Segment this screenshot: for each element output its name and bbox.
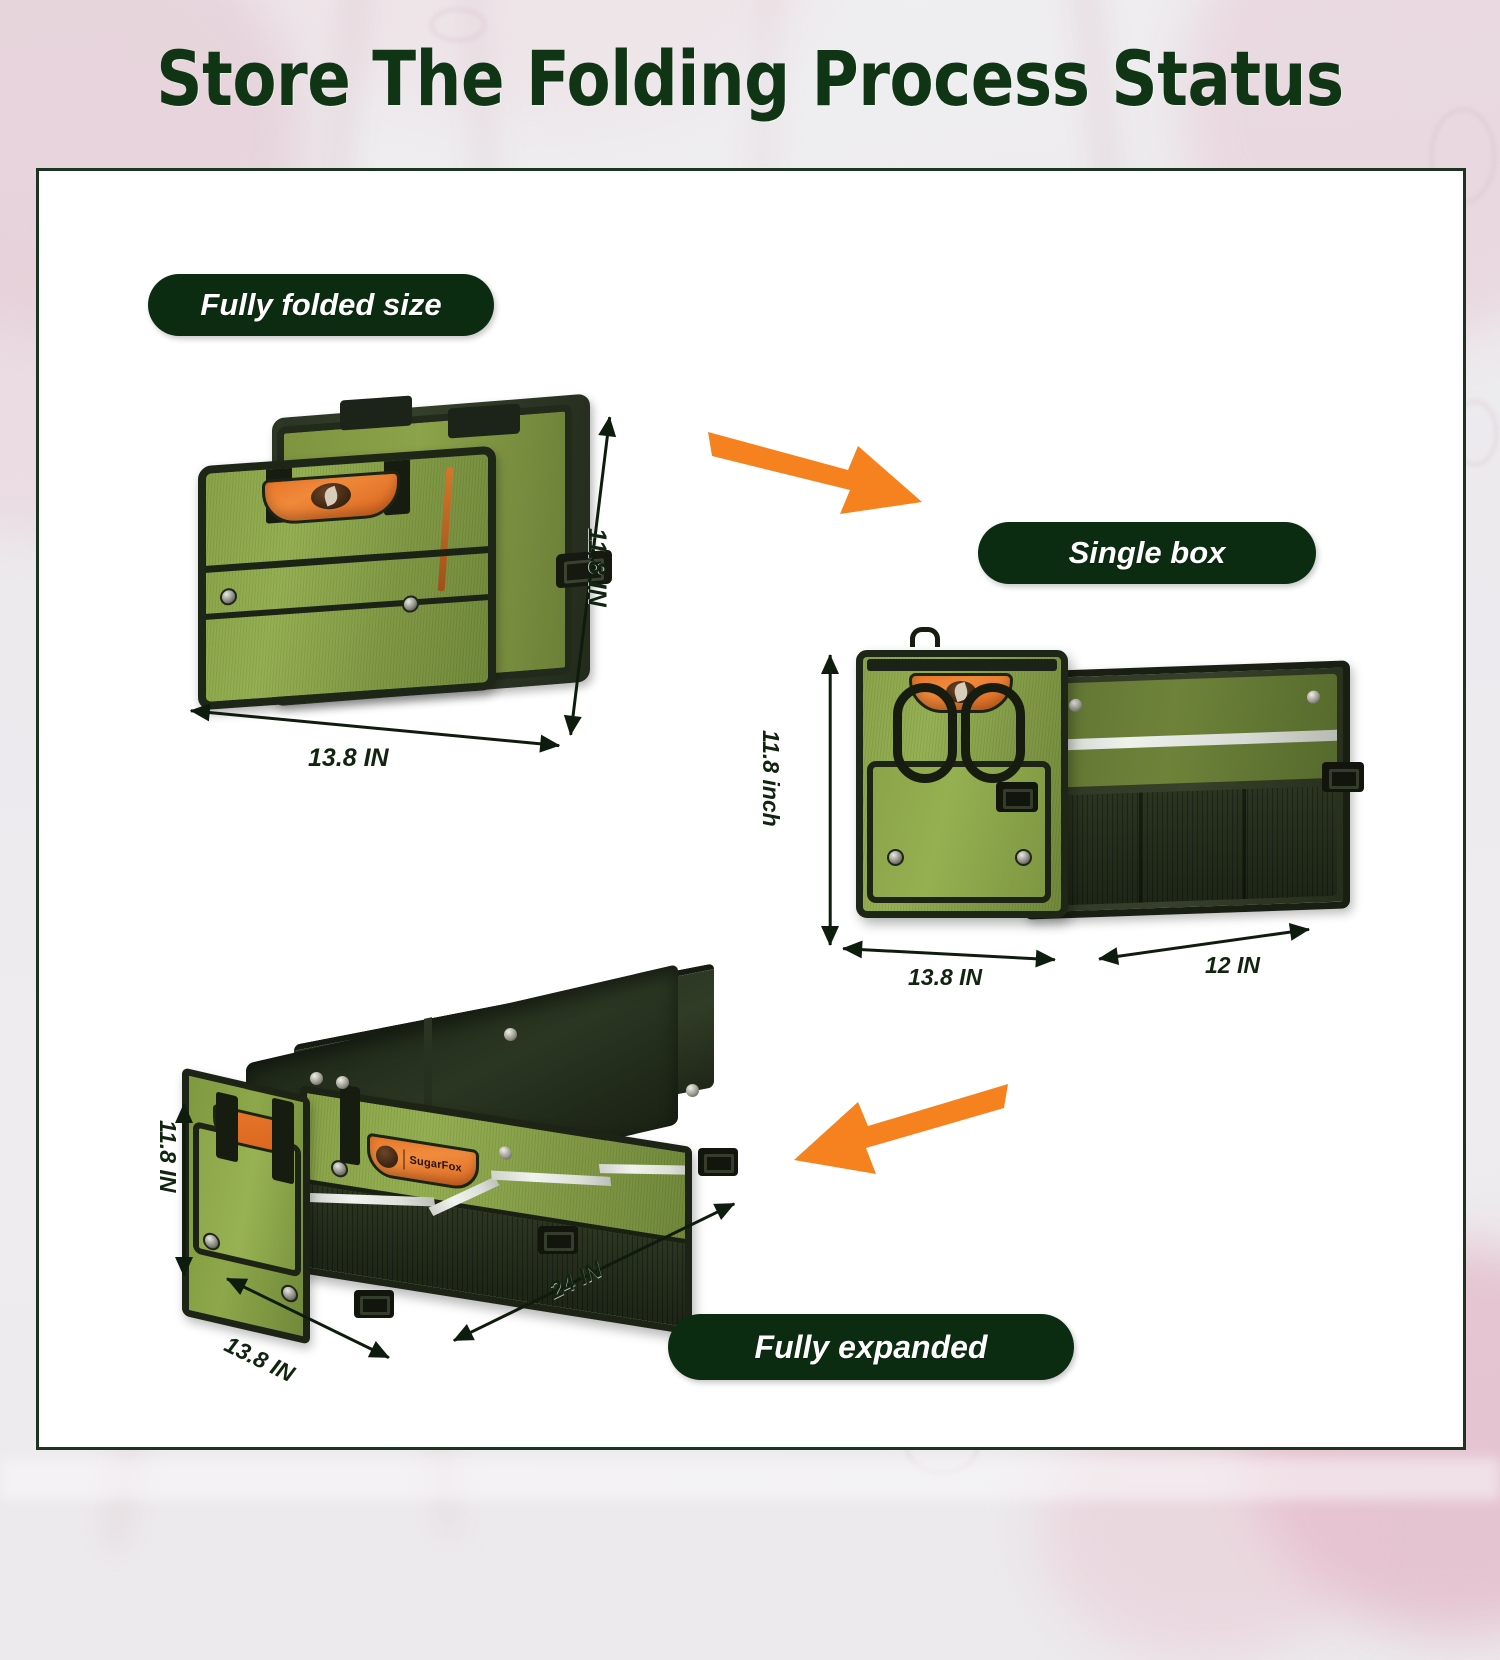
grommet: [1015, 849, 1032, 866]
snap-button: [499, 1145, 512, 1160]
arrow-single-to-expanded-icon: [786, 1078, 1016, 1193]
mesh-pocket-divider: [1139, 793, 1142, 903]
grommet: [402, 595, 419, 613]
single-box-side-panel: [1024, 660, 1350, 919]
background-bottom-band: [0, 1458, 1500, 1500]
folded-front-panel: [198, 446, 496, 711]
brand-patch: [262, 470, 400, 526]
snap-button: [310, 1072, 323, 1085]
dimension-arrow-single-height: [820, 655, 840, 945]
top-zipper: [867, 659, 1057, 671]
folded-top-strap: [448, 403, 520, 438]
dimension-label-folded-width: 13.8 IN: [308, 744, 389, 773]
zipper-line: [438, 467, 454, 591]
snap-button: [336, 1076, 349, 1089]
brand-label: SugarFox: [367, 1133, 479, 1193]
side-mesh-pockets: [1037, 786, 1337, 906]
product-image-folded: [188, 392, 608, 728]
leaf-logo-icon: [311, 482, 351, 511]
dimension-label-single-depth: 12 IN: [1205, 952, 1260, 979]
mesh-pocket-divider: [1243, 789, 1246, 899]
page-title: Store The Folding Process Status: [45, 34, 1455, 123]
carry-handle-strap: [340, 1084, 360, 1165]
carry-handle-strap: [216, 1091, 238, 1162]
dimension-label-single-height: 11.8 inch: [757, 730, 784, 827]
dimension-label-single-width: 13.8 IN: [908, 964, 982, 991]
grommet: [887, 849, 904, 866]
closure-buckle: [698, 1148, 738, 1176]
badge-single-box: Single box: [978, 522, 1316, 584]
leaf-logo-icon: [376, 1144, 398, 1169]
label-divider: [403, 1149, 405, 1169]
snap-button: [504, 1028, 517, 1041]
hanging-tab: [910, 627, 940, 647]
arrow-folded-to-single-icon: [700, 418, 930, 528]
closure-buckle: [354, 1290, 394, 1318]
brand-name: SugarFox: [410, 1154, 462, 1174]
snap-button: [686, 1084, 699, 1097]
closure-buckle: [996, 782, 1038, 812]
grommet: [220, 588, 237, 606]
badge-fully-folded: Fully folded size: [148, 274, 494, 336]
carry-handle-strap: [272, 1097, 294, 1184]
reflective-stripe: [599, 1164, 692, 1175]
dimension-label-expanded-height: 11.8 IN: [154, 1120, 181, 1192]
carry-handle-loop: [893, 683, 957, 783]
badge-fully-expanded: Fully expanded: [668, 1314, 1074, 1380]
folded-top-strap: [340, 395, 412, 430]
closure-buckle: [538, 1226, 578, 1254]
closure-buckle: [1322, 762, 1364, 792]
reflective-stripe: [491, 1170, 611, 1185]
carry-handle-loop: [961, 683, 1025, 783]
dimension-label-folded-height: 11.8 IN: [582, 528, 611, 607]
product-image-single-box: [828, 642, 1358, 942]
pocket-seam: [206, 594, 488, 620]
